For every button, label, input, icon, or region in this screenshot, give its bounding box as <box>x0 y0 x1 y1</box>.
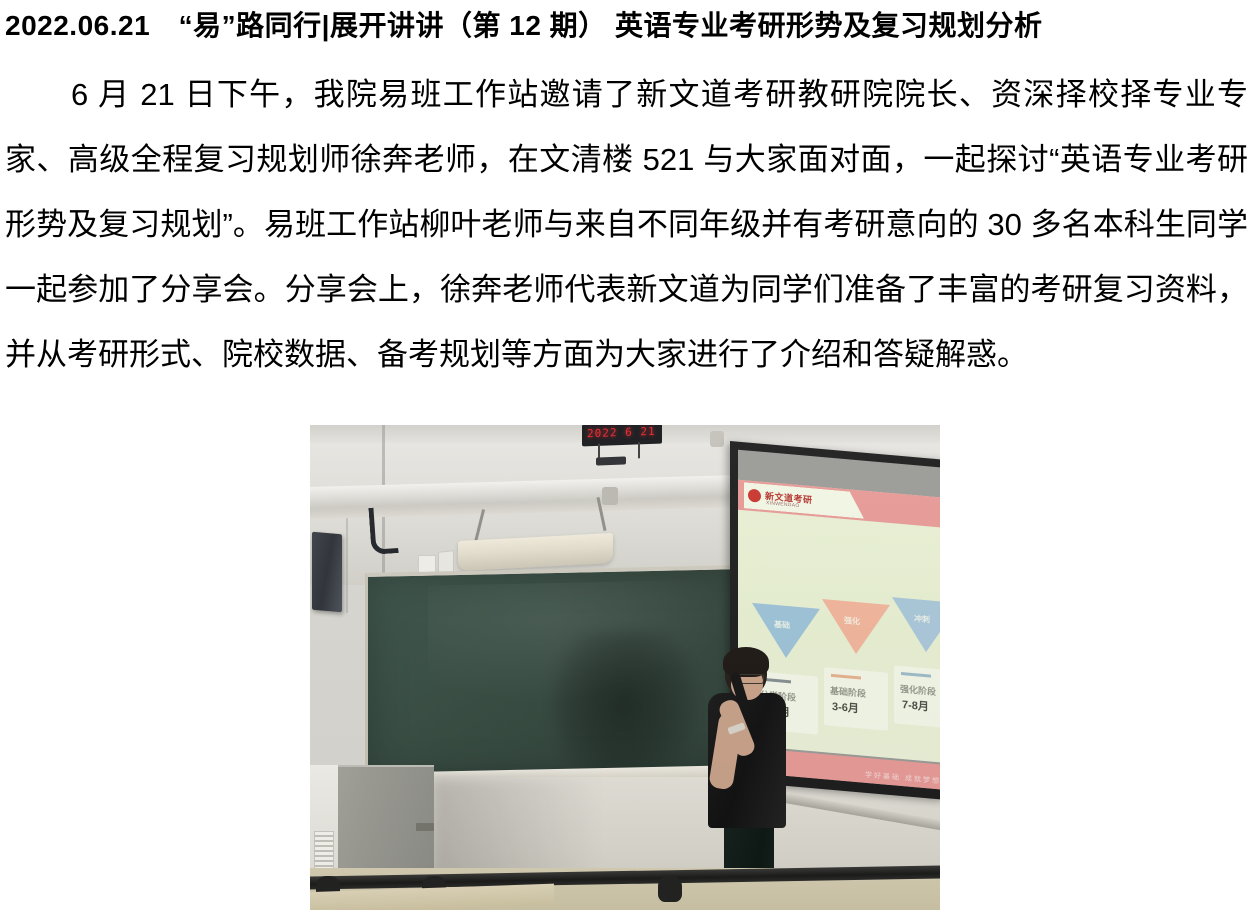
speaker-hair <box>723 647 769 677</box>
slide-stage-card: 强化阶段 7-8月 <box>894 665 940 729</box>
slide-triangle-label-2: 强化 <box>844 615 860 627</box>
slide-triangle-3 <box>892 597 940 655</box>
page-title: 2022.06.21 “易”路同行|展开讲讲（第 12 期） 英语专业考研形势及… <box>5 6 1248 46</box>
card-period: 3-6月 <box>832 698 859 716</box>
brand-logo-icon <box>748 489 761 503</box>
event-photo: 2022 6 21 新文道考研 XINWENDAO <box>310 425 940 910</box>
photo-scene: 2022 6 21 新文道考研 XINWENDAO <box>310 425 940 910</box>
wall-cable <box>368 506 398 555</box>
lectern-latch <box>416 823 434 831</box>
card-period: 7-8月 <box>902 696 929 714</box>
slide-triangle-2 <box>822 599 890 657</box>
card-rule <box>831 674 861 680</box>
wall-speaker-icon <box>312 532 342 613</box>
led-clock-digits: 2022 6 21 <box>587 425 656 440</box>
slide-stage-card: 基础阶段 3-6月 <box>824 667 888 731</box>
slide-triangle-label-1: 基础 <box>774 619 790 631</box>
rail-foot <box>658 876 682 902</box>
wall-joint-line-secondary <box>346 513 348 613</box>
slide-triangle-label-3: 冲刺 <box>914 613 930 625</box>
clock-base <box>596 456 626 465</box>
article-body-paragraph: 6 月 21 日下午，我院易班工作站邀请了新文道考研教研院院长、资深择校择专业专… <box>5 62 1248 387</box>
card-rule <box>901 672 931 678</box>
lectern-vents <box>314 831 334 869</box>
light-mount <box>602 487 618 505</box>
ceiling-hook <box>710 431 724 447</box>
